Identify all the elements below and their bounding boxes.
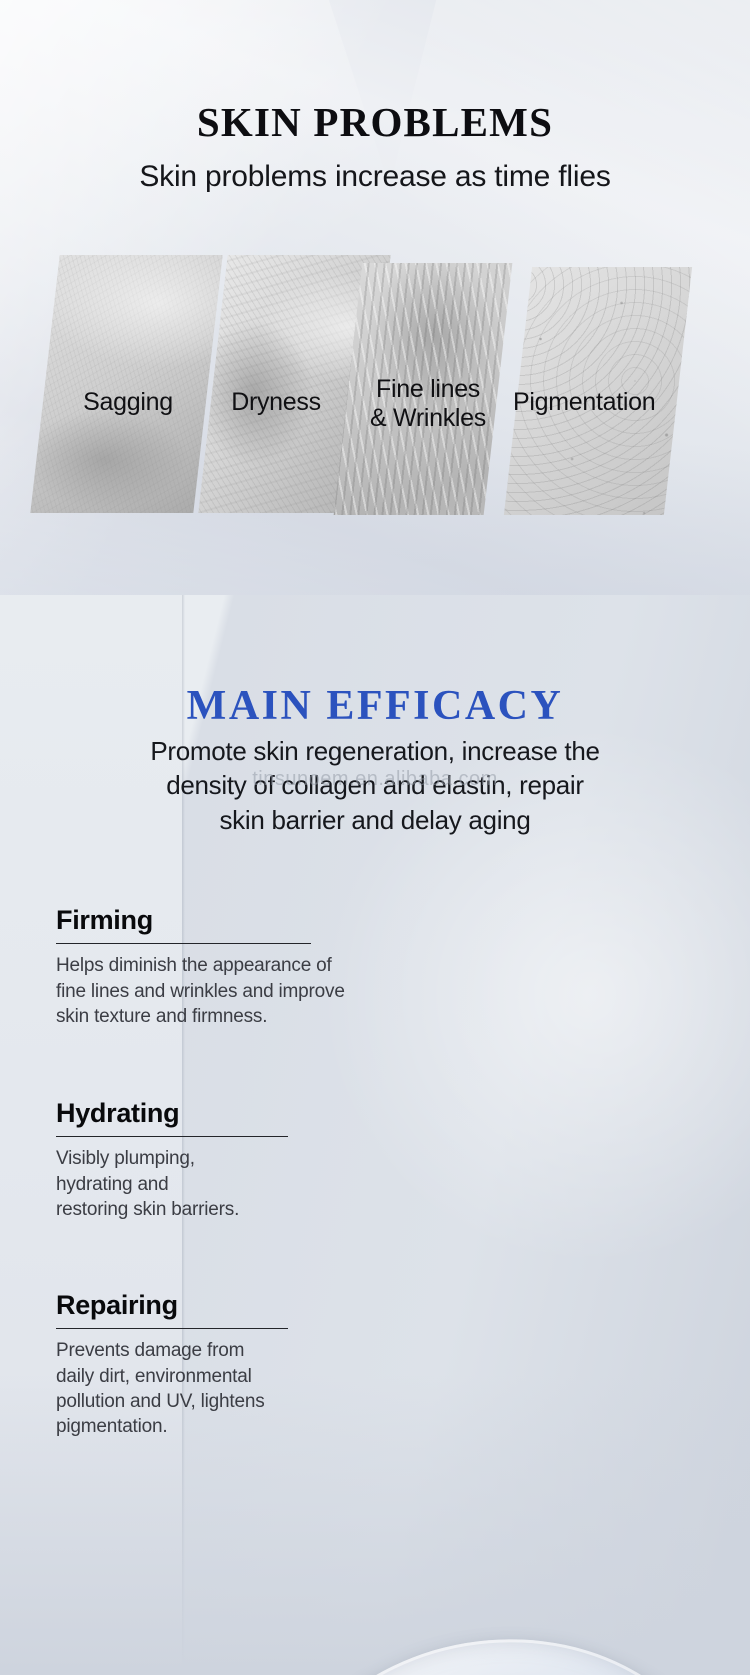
problem-tiles: Sagging Dryness Fine lines & Wrinkles Pi… [0, 255, 750, 530]
benefit-block-hydrating: Hydrating Visibly plumping, hydrating an… [56, 1098, 306, 1222]
benefit-divider [56, 1136, 288, 1137]
benefit-title-repairing: Repairing [56, 1290, 311, 1321]
skin-problems-section: SKIN PROBLEMS Skin problems increase as … [0, 0, 750, 595]
problem-tile-label-pigmentation: Pigmentation [513, 388, 723, 417]
problem-tile-label-dryness: Dryness [196, 388, 356, 417]
benefit-body-firming: Helps diminish the appearance of fine li… [56, 953, 416, 1029]
skin-problems-subtitle: Skin problems increase as time flies [0, 158, 750, 196]
benefit-title-hydrating: Hydrating [56, 1098, 306, 1129]
benefit-block-repairing: Repairing Prevents damage from daily dir… [56, 1290, 311, 1440]
cream-swirl [438, 1666, 651, 1675]
problem-tile-sagging[interactable] [30, 255, 222, 513]
skin-problems-title: SKIN PROBLEMS [0, 102, 750, 143]
product-detail-page: SKIN PROBLEMS Skin problems increase as … [0, 0, 750, 1675]
jar-cream-surface [289, 1637, 736, 1675]
benefit-block-firming: Firming Helps diminish the appearance of… [56, 905, 416, 1029]
main-efficacy-title: MAIN EFFICACY [0, 685, 750, 727]
benefit-title-firming: Firming [56, 905, 416, 936]
cream-jar-photo [262, 1630, 740, 1675]
cream-swirl [338, 1667, 676, 1675]
problem-tile-label-sagging: Sagging [48, 388, 208, 417]
benefit-divider [56, 1328, 288, 1329]
cream-highlight [355, 1655, 593, 1675]
sagging-skin-photo [30, 255, 222, 513]
benefit-divider [56, 943, 311, 944]
main-efficacy-subtitle: Promote skin regeneration, increase the … [75, 734, 675, 837]
problem-tile-label-fine-lines: Fine lines & Wrinkles [353, 375, 503, 433]
benefit-body-hydrating: Visibly plumping, hydrating and restorin… [56, 1146, 306, 1222]
benefit-body-repairing: Prevents damage from daily dirt, environ… [56, 1338, 311, 1440]
